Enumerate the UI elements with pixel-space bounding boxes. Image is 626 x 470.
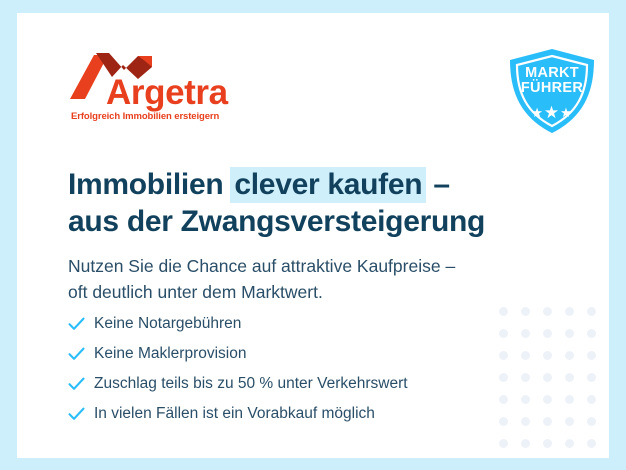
logo-tagline: Erfolgreich Immobilien ersteigern xyxy=(71,111,219,122)
logo-wordmark: Argetra xyxy=(106,75,228,110)
subheading-line1: Nutzen Sie die Chance auf attraktive Kau… xyxy=(68,256,455,276)
list-item-label: Keine Maklerprovision xyxy=(94,346,247,362)
decorative-dot xyxy=(499,439,508,448)
decorative-dot xyxy=(565,351,574,360)
list-item: Keine Maklerprovision xyxy=(68,339,528,369)
decorative-dot xyxy=(587,439,596,448)
check-icon xyxy=(68,377,94,391)
headline-part2: – xyxy=(425,168,449,201)
list-item: Keine Notargebühren xyxy=(68,309,528,339)
decorative-dot xyxy=(543,439,552,448)
list-item-label: Zuschlag teils bis zu 50 % unter Verkehr… xyxy=(94,376,408,392)
list-item: In vielen Fällen ist ein Vorabkauf mögli… xyxy=(68,399,528,429)
headline-part1: Immobilien xyxy=(68,168,231,201)
badge-label: MARKT FÜHRER xyxy=(506,66,598,96)
page-frame: Argetra Erfolgreich Immobilien ersteiger… xyxy=(0,0,626,470)
decorative-dot xyxy=(543,307,552,316)
decorative-dot xyxy=(565,439,574,448)
benefit-list: Keine NotargebührenKeine Maklerprovision… xyxy=(68,309,528,429)
decorative-dot xyxy=(565,329,574,338)
decorative-dot xyxy=(565,373,574,382)
decorative-dot xyxy=(587,417,596,426)
decorative-dot xyxy=(565,307,574,316)
promo-card: Argetra Erfolgreich Immobilien ersteiger… xyxy=(17,13,609,458)
badge-stars: ★★★ xyxy=(506,103,598,123)
badge-label-line1: MARKT xyxy=(506,66,598,81)
check-icon xyxy=(68,407,94,421)
check-icon xyxy=(68,347,94,361)
decorative-dot xyxy=(565,395,574,404)
decorative-dot xyxy=(587,307,596,316)
badge-label-line2: FÜHRER xyxy=(506,81,598,96)
decorative-dot xyxy=(587,329,596,338)
decorative-dot xyxy=(587,373,596,382)
headline-highlight: clever kaufen xyxy=(230,167,426,203)
subheading-line2: oft deutlich unter dem Marktwert. xyxy=(68,282,323,302)
decorative-dot xyxy=(543,351,552,360)
market-leader-badge: MARKT FÜHRER ★★★ xyxy=(506,47,598,135)
check-icon xyxy=(68,317,94,331)
headline-line2: aus der Zwangsversteigerung xyxy=(68,205,485,238)
page-title: Immobilien clever kaufen – aus der Zwang… xyxy=(68,167,568,240)
decorative-dot xyxy=(543,329,552,338)
decorative-dot xyxy=(543,395,552,404)
decorative-dot xyxy=(565,417,574,426)
subheading: Nutzen Sie die Chance auf attraktive Kau… xyxy=(68,253,568,306)
list-item: Zuschlag teils bis zu 50 % unter Verkehr… xyxy=(68,369,528,399)
decorative-dot xyxy=(587,395,596,404)
decorative-dot xyxy=(543,417,552,426)
decorative-dot xyxy=(543,373,552,382)
argetra-logo: Argetra Erfolgreich Immobilien ersteiger… xyxy=(68,53,268,117)
list-item-label: In vielen Fällen ist ein Vorabkauf mögli… xyxy=(94,406,375,422)
decorative-dot xyxy=(521,439,530,448)
list-item-label: Keine Notargebühren xyxy=(94,316,241,332)
decorative-dot xyxy=(587,351,596,360)
